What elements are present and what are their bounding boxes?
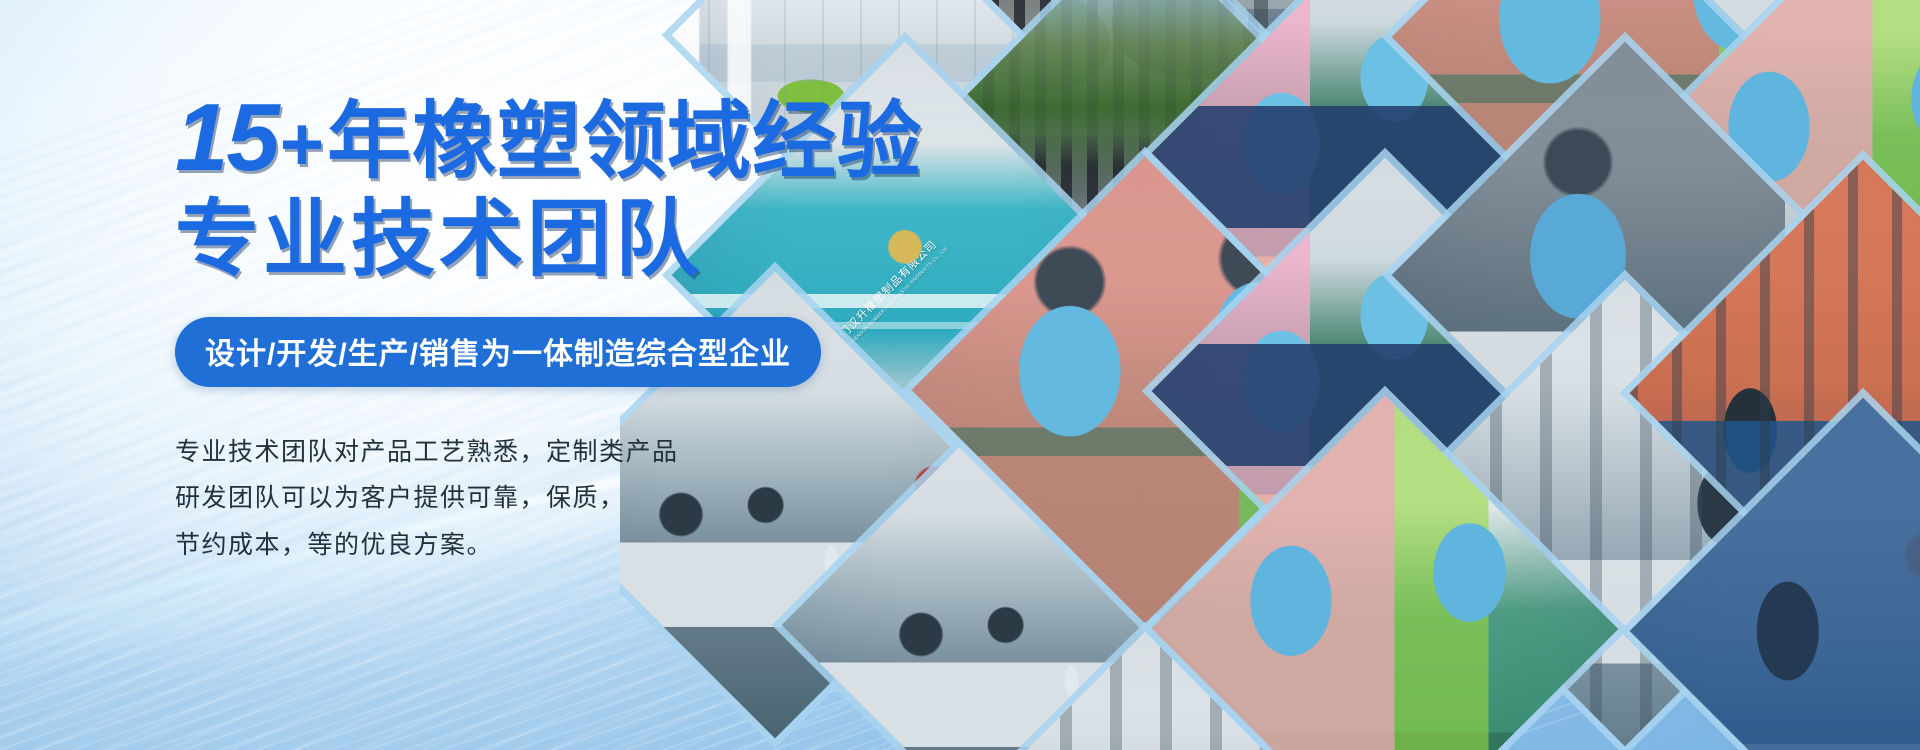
headline-line-2: 专业技术团队 (175, 196, 955, 283)
headline-line-1: 15+年橡塑领域经验 (175, 88, 955, 188)
hero-banner: 厦门汉升橡塑制品有限公司 XIAMEN HENSON RUBBER AND PL… (0, 0, 1920, 750)
tagline-badge: 设计/开发/生产/销售为一体制造综合型企业 (175, 317, 821, 387)
headline-line-1-suffix: 年橡塑领域经验 (327, 94, 922, 188)
headline: 15+年橡塑领域经验 专业技术团队 (175, 88, 955, 283)
description-line-3: 节约成本，等的优良方案。 (175, 522, 955, 568)
description-paragraph: 专业技术团队对产品工艺熟悉，定制类产品 研发团队可以为客户提供可靠，保质， 节约… (175, 429, 955, 568)
hero-content: 15+年橡塑领域经验 专业技术团队 设计/开发/生产/销售为一体制造综合型企业 … (175, 88, 955, 568)
description-line-2: 研发团队可以为客户提供可靠，保质， (175, 475, 955, 521)
description-line-1: 专业技术团队对产品工艺熟悉，定制类产品 (175, 429, 955, 475)
headline-plus: + (280, 102, 327, 187)
headline-number: 15 (175, 84, 280, 191)
